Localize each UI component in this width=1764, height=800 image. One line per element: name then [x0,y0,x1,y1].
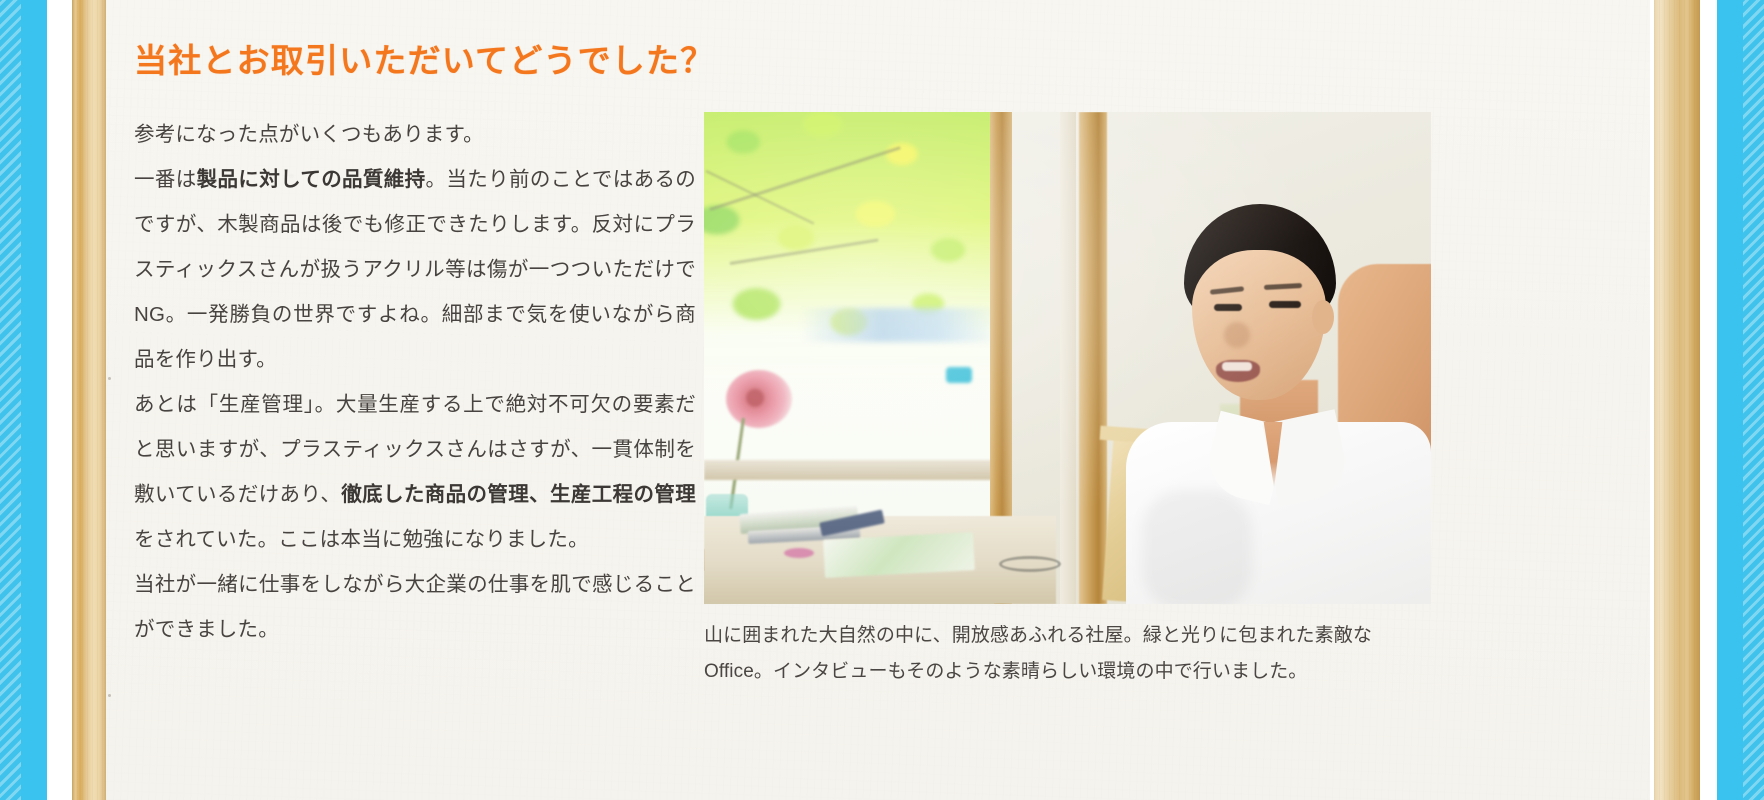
paragraph-3-rest: をされていた。ここは本当に勉強になりました。 [134,528,589,551]
interview-body-text: 参考になった点がいくつもあります。 一番は製品に対しての品質維持。当たり前のこと… [134,112,696,652]
paragraph-2: 一番は製品に対しての品質維持。当たり前のことではあるのですが、木製商品は後でも修… [134,157,696,382]
right-white-gap [1700,0,1717,800]
paragraph-1: 参考になった点がいくつもあります。 [134,112,696,157]
photo-caption-line-1: 山に囲まれた大自然の中に、開放感あふれる社屋。緑と光りに包まれた素敵な [704,625,1372,646]
paragraph-2-lead: 一番は [134,168,197,191]
photo-pink-object [784,548,814,558]
left-striped-border [0,0,21,800]
photo-caption-line-2: Office。インタビューもそのような素晴らしい環境の中で行いました。 [704,661,1307,682]
paragraph-3-emphasis: 徹底した商品の管理、生産工程の管理 [341,483,696,506]
left-solid-border [21,0,47,800]
photo-teeth [1222,362,1252,371]
right-solid-border [1717,0,1743,800]
paragraph-2-rest: 。当たり前のことではあるのですが、木製商品は後でも修正できたりします。反対にプラ… [134,168,696,371]
interview-photo [704,112,1431,604]
photo-face [1192,250,1326,400]
paragraph-4-text: 当社が一緒に仕事をしながら大企業の仕事を肌で感じることができました。 [134,573,696,641]
interview-photo-block: 山に囲まれた大自然の中に、開放感あふれる社屋。緑と光りに包まれた素敵な Offi… [704,112,1431,690]
photo-eye [1269,301,1301,308]
photo-teal-object [946,367,972,383]
page-title: 当社とお取引いただいてどうでした？ [134,34,714,82]
paragraph-1-text: 参考になった点がいくつもあります。 [134,123,484,146]
right-wood-frame [1654,0,1700,800]
photo-nose [1224,322,1250,348]
paper-speck [108,694,111,697]
photo-eyeglasses [999,556,1061,572]
photo-ear [1312,300,1334,334]
left-white-gap [47,0,72,800]
paper-speck [108,377,111,380]
wood-grain-texture [1654,0,1700,800]
paragraph-3: あとは「生産管理」。大量生産する上で絶対不可欠の要素だと思いますが、プラスティッ… [134,382,696,562]
wood-grain-texture [72,0,106,800]
photo-caption: 山に囲まれた大自然の中に、開放感あふれる社屋。緑と光りに包まれた素敵な Offi… [704,618,1422,690]
photo-book [823,532,975,578]
paragraph-2-emphasis: 製品に対しての品質維持 [197,168,426,191]
photo-distant-landscape [800,308,1000,342]
photo-interviewee [1064,204,1431,604]
photo-gerbera-flower [726,370,792,428]
photo-window [704,112,1004,567]
content-panel: 当社とお取引いただいてどうでした？ 参考になった点がいくつもあります。 一番は製… [106,0,1650,800]
left-wood-frame [72,0,106,800]
right-striped-border [1743,0,1764,800]
photo-foliage [704,112,1004,400]
paragraph-4: 当社が一緒に仕事をしながら大企業の仕事を肌で感じることができました。 [134,562,696,652]
photo-eye [1214,304,1242,311]
photo-shirt-shadow [1142,490,1252,604]
photo-window-sill [704,460,1004,480]
